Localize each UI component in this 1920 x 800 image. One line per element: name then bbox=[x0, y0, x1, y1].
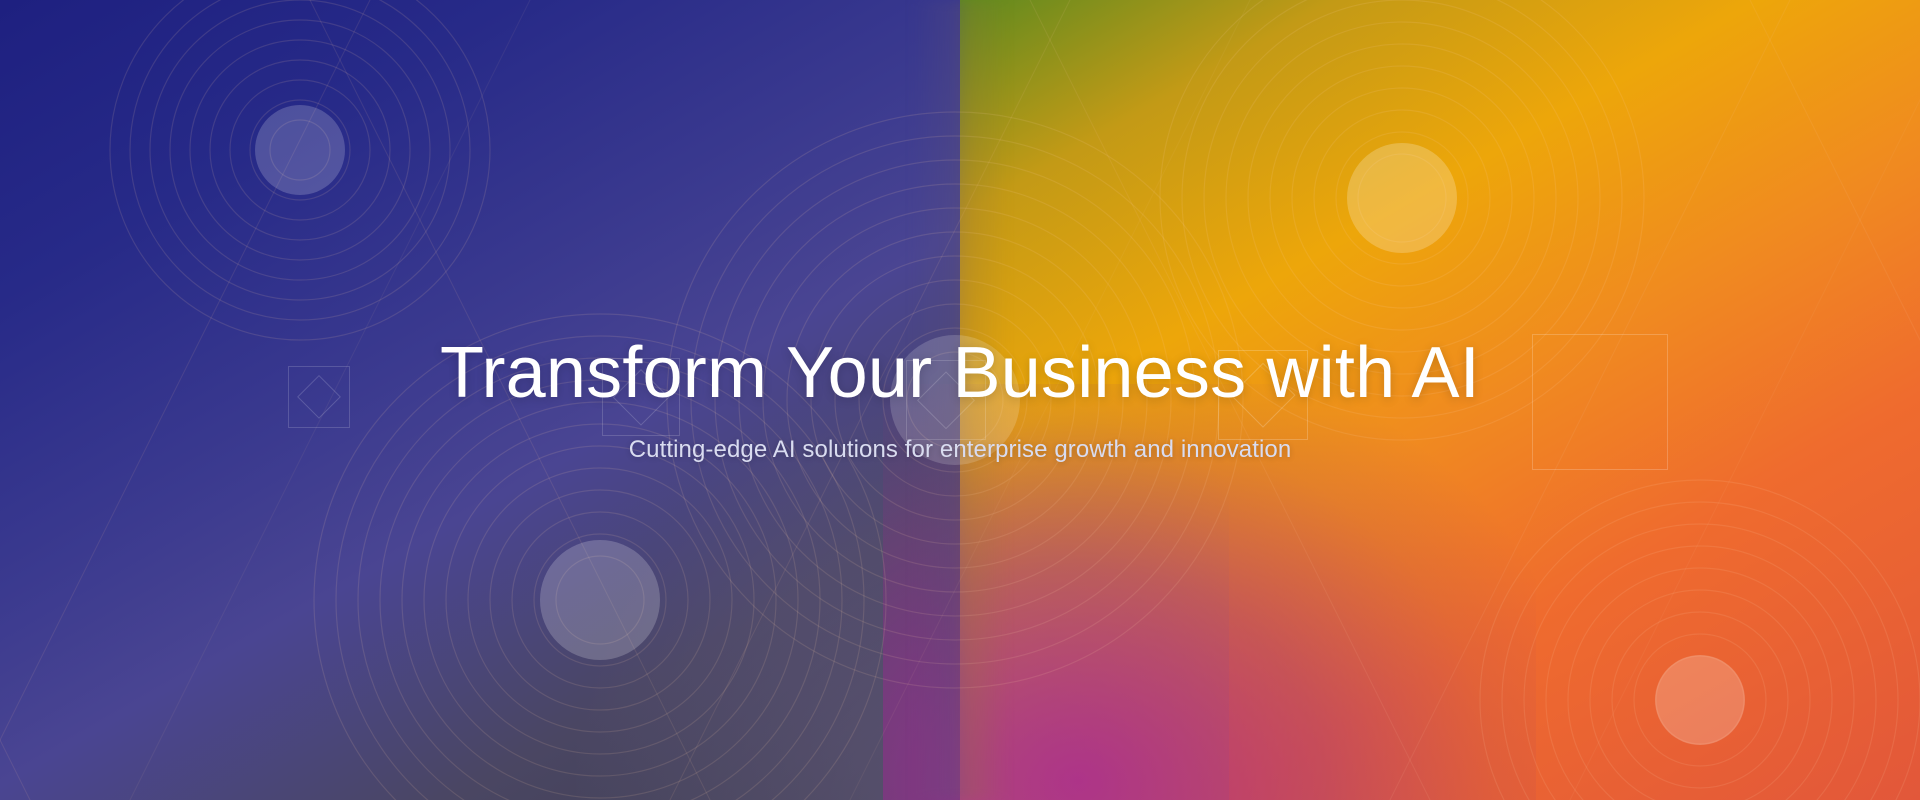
hero-banner: Transform Your Business with AI Cutting-… bbox=[0, 0, 1920, 800]
page-title: Transform Your Business with AI bbox=[440, 335, 1480, 413]
hero-content: Transform Your Business with AI Cutting-… bbox=[0, 0, 1920, 800]
page-subtitle: Cutting-edge AI solutions for enterprise… bbox=[629, 434, 1292, 465]
